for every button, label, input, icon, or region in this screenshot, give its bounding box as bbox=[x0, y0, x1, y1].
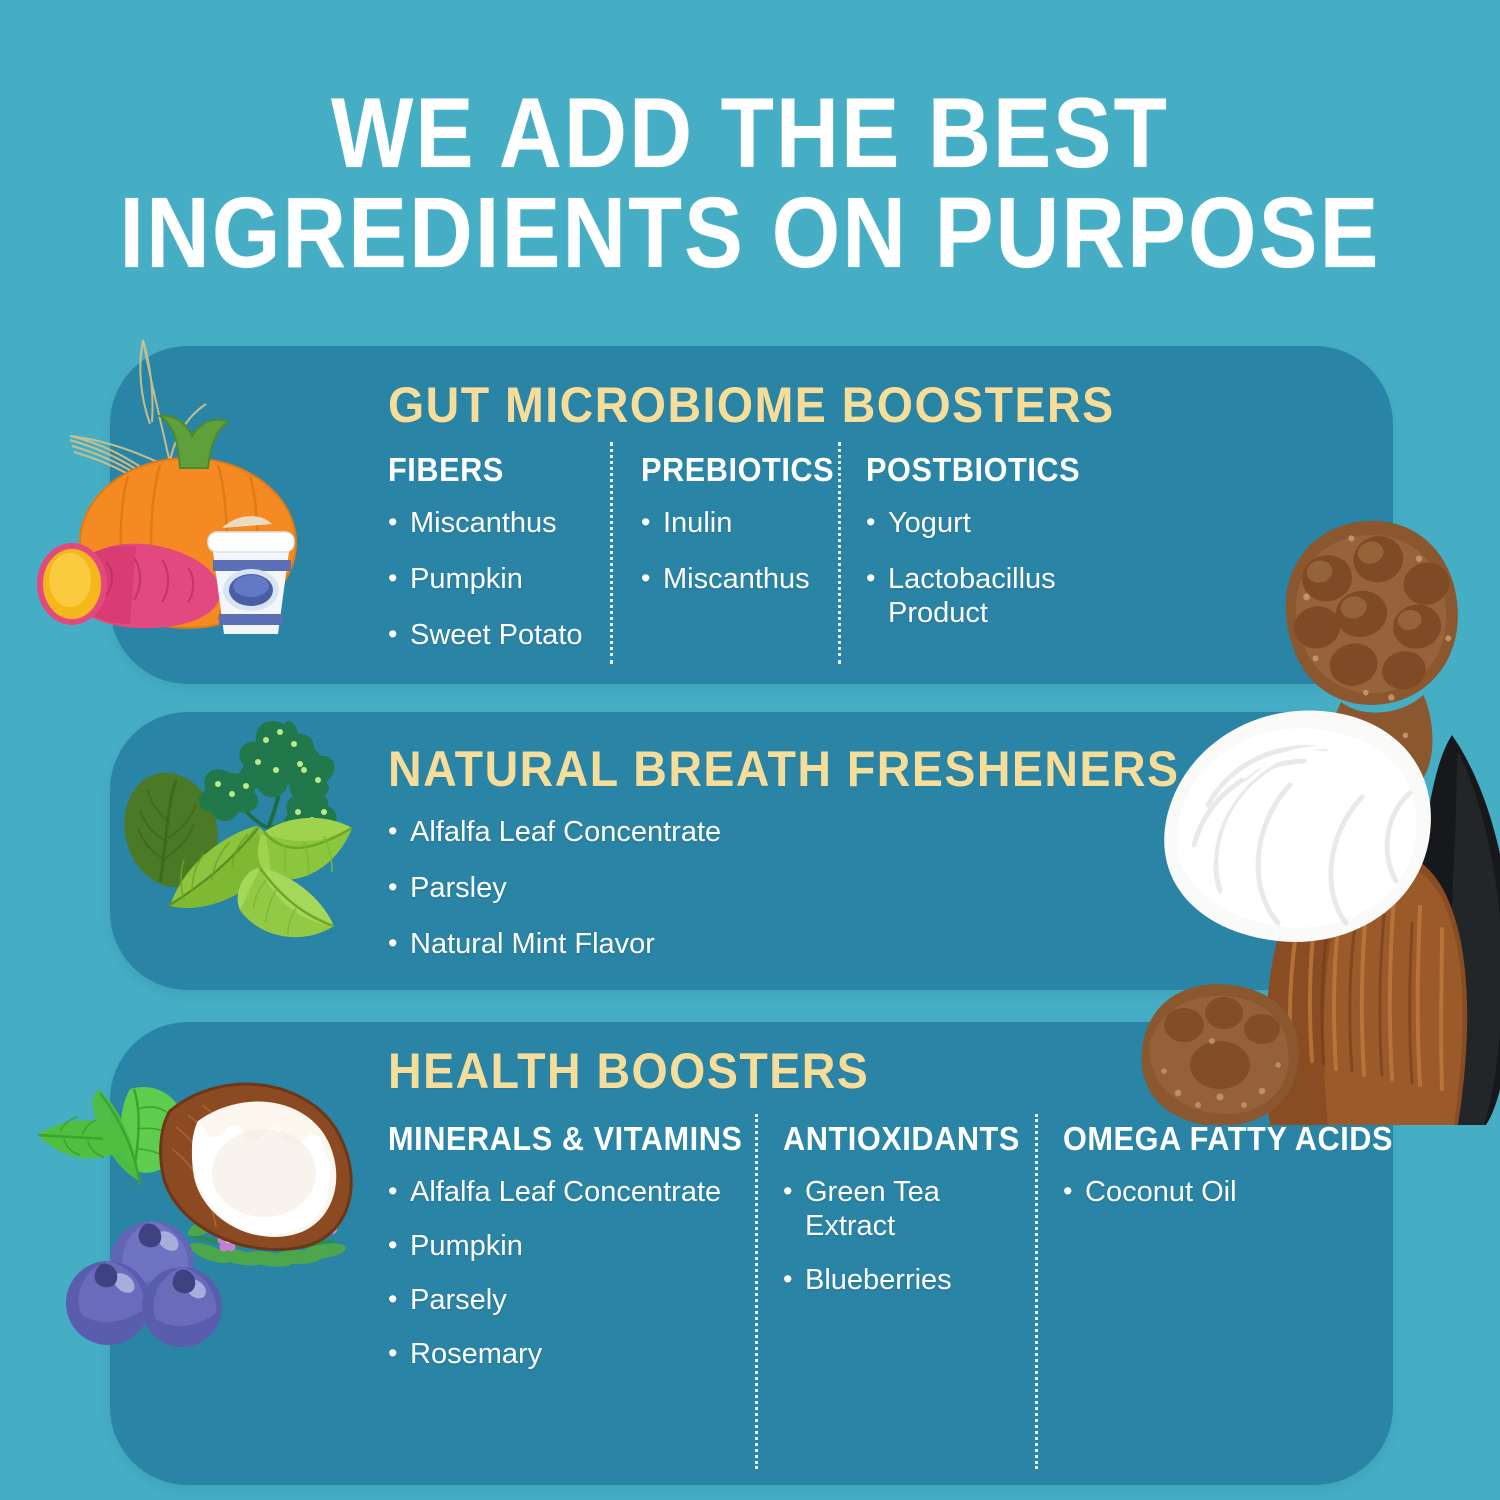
list-item: Miscanthus bbox=[641, 562, 891, 596]
list-item: Parsely bbox=[388, 1283, 768, 1317]
list-item: Green Tea Extract bbox=[783, 1175, 983, 1243]
card-title: NATURAL BREATH FRESHENERS bbox=[388, 740, 1180, 798]
column-divider bbox=[1035, 1114, 1041, 1469]
column-heading-fibers: FIBERS bbox=[388, 451, 504, 489]
column-divider bbox=[755, 1114, 761, 1469]
card-natural-breath-fresheners: NATURAL BREATH FRESHENERS Alfalfa Leaf C… bbox=[110, 712, 1393, 990]
list-item: Rosemary bbox=[388, 1337, 768, 1371]
list-prebiotics: Inulin Miscanthus bbox=[641, 506, 891, 618]
card-title: HEALTH BOOSTERS bbox=[388, 1042, 869, 1100]
list-item: Alfalfa Leaf Concentrate bbox=[388, 1175, 768, 1209]
list-fibers: Miscanthus Pumpkin Sweet Potato bbox=[388, 506, 678, 674]
list-item: Inulin bbox=[641, 506, 891, 540]
column-divider bbox=[838, 442, 844, 664]
list-item: Pumpkin bbox=[388, 562, 678, 596]
title-line-2: INGREDIENTS ON PURPOSE bbox=[90, 183, 1410, 284]
card-title: GUT MICROBIOME BOOSTERS bbox=[388, 376, 1115, 434]
list-item: Pumpkin bbox=[388, 1229, 768, 1263]
list-item: Natural Mint Flavor bbox=[388, 927, 1008, 961]
list-antioxidants: Green Tea Extract Blueberries bbox=[783, 1175, 983, 1317]
page-title: WE ADD THE BEST INGREDIENTS ON PURPOSE bbox=[0, 82, 1500, 284]
column-divider bbox=[610, 442, 616, 664]
list-item: Yogurt bbox=[866, 506, 1101, 540]
card-gut-microbiome-boosters: GUT MICROBIOME BOOSTERS FIBERS Miscanthu… bbox=[110, 346, 1393, 684]
list-item: Alfalfa Leaf Concentrate bbox=[388, 815, 1008, 849]
list-item: Lactobacillus Product bbox=[866, 562, 1101, 630]
list-breath-fresheners: Alfalfa Leaf Concentrate Parsley Natural… bbox=[388, 815, 1008, 983]
title-line-1: WE ADD THE BEST bbox=[90, 82, 1410, 183]
column-heading-prebiotics: PREBIOTICS bbox=[641, 451, 834, 489]
list-minerals-vitamins: Alfalfa Leaf Concentrate Pumpkin Parsely… bbox=[388, 1175, 768, 1391]
list-item: Parsley bbox=[388, 871, 1008, 905]
list-item: Coconut Oil bbox=[1063, 1175, 1363, 1209]
list-postbiotics: Yogurt Lactobacillus Product bbox=[866, 506, 1101, 652]
column-heading-omega-fatty-acids: OMEGA FATTY ACIDS bbox=[1063, 1120, 1393, 1158]
list-item: Miscanthus bbox=[388, 506, 678, 540]
list-item: Sweet Potato bbox=[388, 618, 678, 652]
list-omega-fatty-acids: Coconut Oil bbox=[1063, 1175, 1363, 1229]
card-health-boosters: HEALTH BOOSTERS MINERALS & VITAMINS Alfa… bbox=[110, 1022, 1393, 1485]
column-heading-antioxidants: ANTIOXIDANTS bbox=[783, 1120, 1020, 1158]
column-heading-minerals-vitamins: MINERALS & VITAMINS bbox=[388, 1120, 742, 1158]
list-item: Blueberries bbox=[783, 1263, 983, 1297]
column-heading-postbiotics: POSTBIOTICS bbox=[866, 451, 1080, 489]
